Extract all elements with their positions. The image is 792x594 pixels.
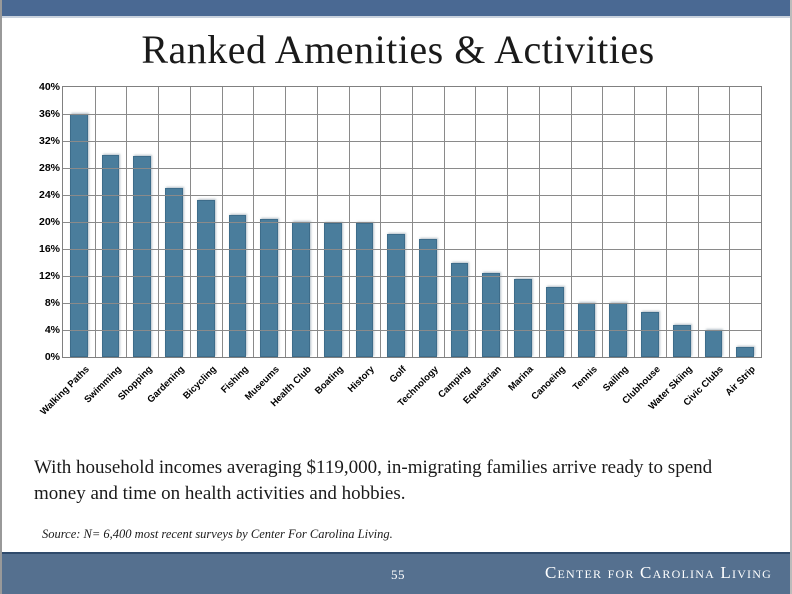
- x-axis-label-text: Marina: [506, 364, 535, 393]
- gridline-vertical: [285, 87, 286, 357]
- y-axis-tick: 4%: [16, 324, 60, 336]
- slide: Ranked Amenities & Activities 40%36%32%2…: [0, 0, 792, 594]
- y-axis-tick: 20%: [16, 216, 60, 228]
- gridline-vertical: [602, 87, 603, 357]
- y-axis-tick: 24%: [16, 189, 60, 201]
- plot-area: [62, 86, 762, 358]
- caption-text: With household incomes averaging $119,00…: [34, 455, 744, 506]
- bar-chart: 40%36%32%28%24%20%16%12%8%4%0% Walking P…: [16, 86, 766, 368]
- gridline-vertical: [666, 87, 667, 357]
- bar: [70, 114, 88, 357]
- gridline-vertical: [507, 87, 508, 357]
- gridline-vertical: [190, 87, 191, 357]
- bar: [165, 188, 183, 357]
- x-axis-label-text: Sailing: [601, 364, 631, 394]
- y-axis-tick: 40%: [16, 81, 60, 93]
- bar: [356, 223, 374, 357]
- x-axis-labels: Walking PathsSwimmingShoppingGardeningBi…: [62, 360, 762, 460]
- x-axis-label-text: Boating: [313, 364, 346, 397]
- y-axis-tick: 28%: [16, 162, 60, 174]
- bar: [387, 234, 405, 357]
- brand-label: Center for Carolina Living: [545, 563, 772, 583]
- bar: [260, 219, 278, 357]
- gridline-vertical: [571, 87, 572, 357]
- gridline-vertical: [412, 87, 413, 357]
- gridline-vertical: [539, 87, 540, 357]
- gridline-vertical: [349, 87, 350, 357]
- gridline-vertical: [729, 87, 730, 357]
- bar: [102, 155, 120, 358]
- gridline-vertical: [444, 87, 445, 357]
- gridline-vertical: [222, 87, 223, 357]
- gridline-vertical: [698, 87, 699, 357]
- y-axis: 40%36%32%28%24%20%16%12%8%4%0%: [16, 86, 60, 358]
- y-axis-tick: 16%: [16, 243, 60, 255]
- gridline-vertical: [317, 87, 318, 357]
- page-title: Ranked Amenities & Activities: [2, 26, 792, 73]
- gridline-vertical: [475, 87, 476, 357]
- y-axis-tick: 0%: [16, 351, 60, 363]
- top-accent-bar: [2, 0, 792, 18]
- x-axis-label-text: Air Strip: [724, 364, 758, 398]
- x-axis-label-text: Tennis: [570, 364, 599, 393]
- x-axis-label-text: History: [346, 364, 377, 395]
- bar: [419, 239, 437, 357]
- y-axis-tick: 12%: [16, 270, 60, 282]
- y-axis-tick: 36%: [16, 108, 60, 120]
- source-note: Source: N= 6,400 most recent surveys by …: [42, 527, 742, 542]
- gridline-vertical: [95, 87, 96, 357]
- gridline-vertical: [126, 87, 127, 357]
- y-axis-tick: 32%: [16, 135, 60, 147]
- x-axis-label-text: Walking Paths: [38, 364, 91, 417]
- gridline-vertical: [158, 87, 159, 357]
- gridline-vertical: [253, 87, 254, 357]
- y-axis-tick: 8%: [16, 297, 60, 309]
- gridline-vertical: [634, 87, 635, 357]
- x-axis-label-text: Golf: [388, 364, 409, 385]
- gridline-vertical: [380, 87, 381, 357]
